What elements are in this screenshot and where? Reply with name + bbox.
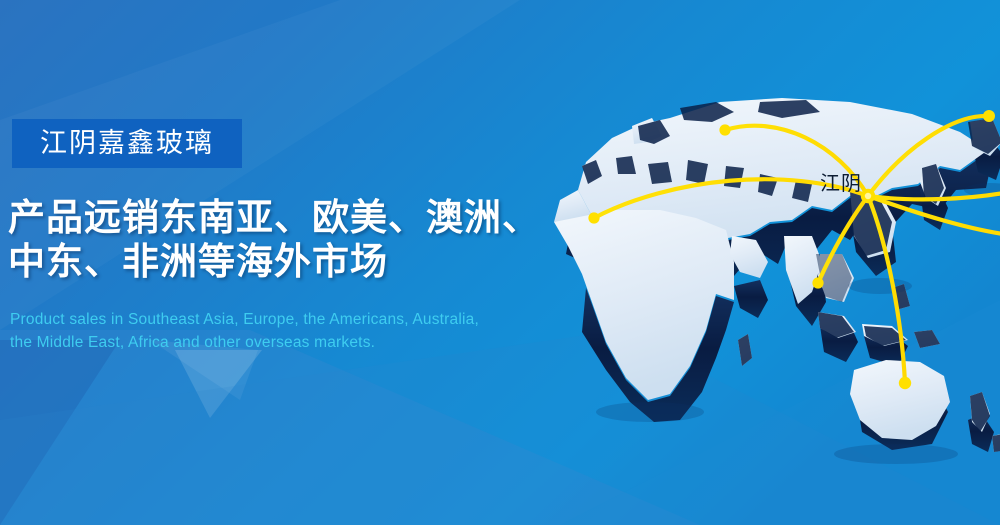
- map-landmass-sides: [566, 122, 1000, 452]
- route-nodes: [588, 110, 995, 389]
- node-north-europe: [719, 124, 730, 135]
- node-southeast-asia: [812, 277, 823, 288]
- subheadline-line-2: the Middle East, Africa and other overse…: [10, 331, 570, 354]
- route-to-far-east: [868, 190, 1000, 199]
- trade-routes: [594, 116, 1000, 383]
- route-to-east-pacific: [868, 196, 1000, 236]
- bg-glow-bottom-right: [560, 300, 1000, 525]
- headline-line-1: 产品远销东南亚、欧美、澳洲、: [8, 196, 588, 240]
- promotional-banner: 江阴 江阴嘉鑫玻璃 产品远销东南亚、欧美、澳洲、 中东、非洲等海外市场 Prod…: [0, 0, 1000, 525]
- brand-badge: 江阴嘉鑫玻璃: [12, 119, 242, 168]
- map-reflections: [596, 183, 1000, 464]
- node-australia: [899, 377, 911, 389]
- banner-copy: 江阴嘉鑫玻璃 产品远销东南亚、欧美、澳洲、 中东、非洲等海外市场 Product…: [0, 0, 600, 525]
- subheadline-line-1: Product sales in Southeast Asia, Europe,…: [10, 308, 570, 331]
- map-relief-shadows: [582, 98, 1000, 452]
- route-to-north-pacific: [868, 116, 989, 196]
- route-to-australia: [868, 196, 905, 383]
- route-to-southeast-asia: [818, 196, 868, 283]
- hub-marker: [861, 189, 875, 203]
- map-landmass-tops: [554, 96, 1000, 452]
- headline-line-2: 中东、非洲等海外市场: [8, 240, 588, 284]
- map-hub-city-label: 江阴: [820, 167, 862, 196]
- subheadline-block: Product sales in Southeast Asia, Europe,…: [10, 308, 570, 354]
- brand-badge-label: 江阴嘉鑫玻璃: [40, 130, 214, 157]
- node-north-pacific: [983, 110, 995, 122]
- headline-block: 产品远销东南亚、欧美、澳洲、 中东、非洲等海外市场: [8, 196, 588, 284]
